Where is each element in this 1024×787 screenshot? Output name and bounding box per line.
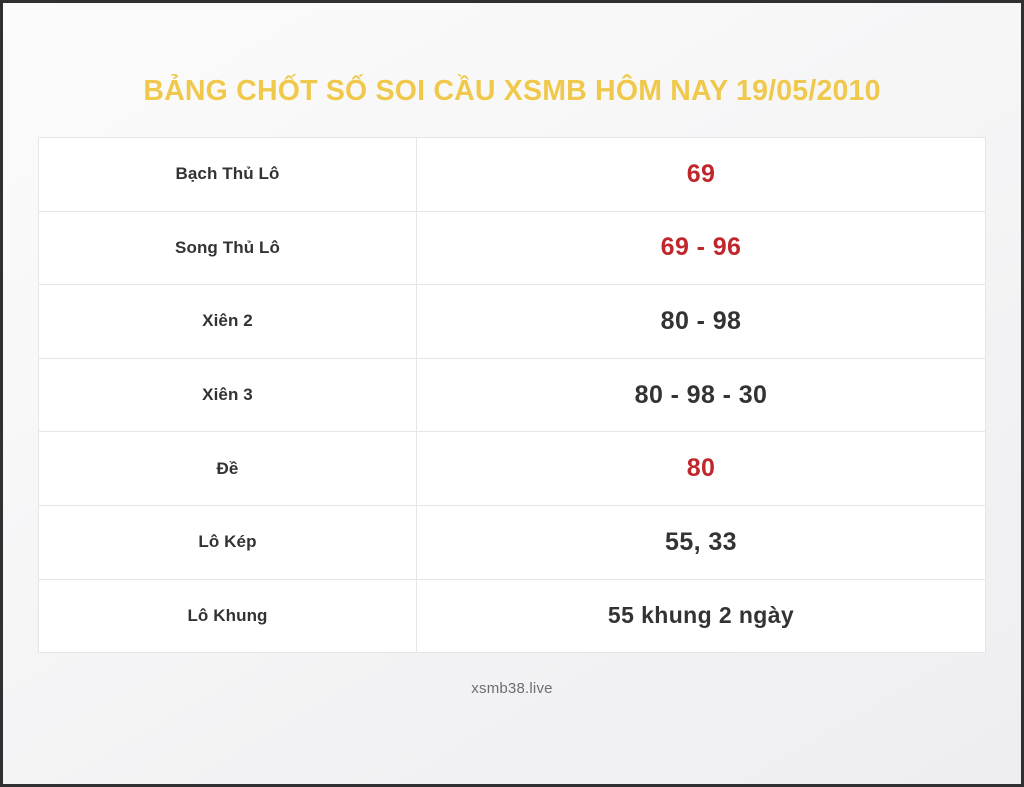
row-label-lo-khung: Lô Khung (39, 580, 417, 653)
row-value-xien-2: 80 - 98 (417, 285, 985, 358)
row-label-lo-kep: Lô Kép (39, 506, 417, 579)
row-value-xien-3: 80 - 98 - 30 (417, 359, 985, 432)
row-label-bach-thu-lo: Bạch Thủ Lô (39, 138, 417, 211)
table-row: Bạch Thủ Lô 69 (39, 138, 985, 212)
row-value-song-thu-lo: 69 - 96 (417, 212, 985, 285)
table-row: Xiên 2 80 - 98 (39, 285, 985, 359)
page-title-container: BẢNG CHỐT SỐ SOI CẦU XSMB HÔM NAY 19/05/… (3, 75, 1021, 108)
row-label-song-thu-lo: Song Thủ Lô (39, 212, 417, 285)
row-value-lo-kep: 55, 33 (417, 506, 985, 579)
footer-site-name: xsmb38.live (471, 680, 552, 697)
row-value-lo-khung: 55 khung 2 ngày (417, 580, 985, 653)
page-canvas: BẢNG CHỐT SỐ SOI CẦU XSMB HÔM NAY 19/05/… (0, 0, 1024, 787)
table-row: Lô Kép 55, 33 (39, 506, 985, 580)
row-label-de: Đề (39, 432, 417, 505)
table-row: Đề 80 (39, 432, 985, 506)
prediction-table: Bạch Thủ Lô 69 Song Thủ Lô 69 - 96 Xiên … (38, 137, 986, 653)
page-title: BẢNG CHỐT SỐ SOI CẦU XSMB HÔM NAY 19/05/… (143, 75, 880, 108)
row-label-xien-2: Xiên 2 (39, 285, 417, 358)
table-row: Lô Khung 55 khung 2 ngày (39, 580, 985, 654)
table-row: Song Thủ Lô 69 - 96 (39, 212, 985, 286)
table-row: Xiên 3 80 - 98 - 30 (39, 359, 985, 433)
row-label-xien-3: Xiên 3 (39, 359, 417, 432)
row-value-de: 80 (417, 432, 985, 505)
row-value-bach-thu-lo: 69 (417, 138, 985, 211)
